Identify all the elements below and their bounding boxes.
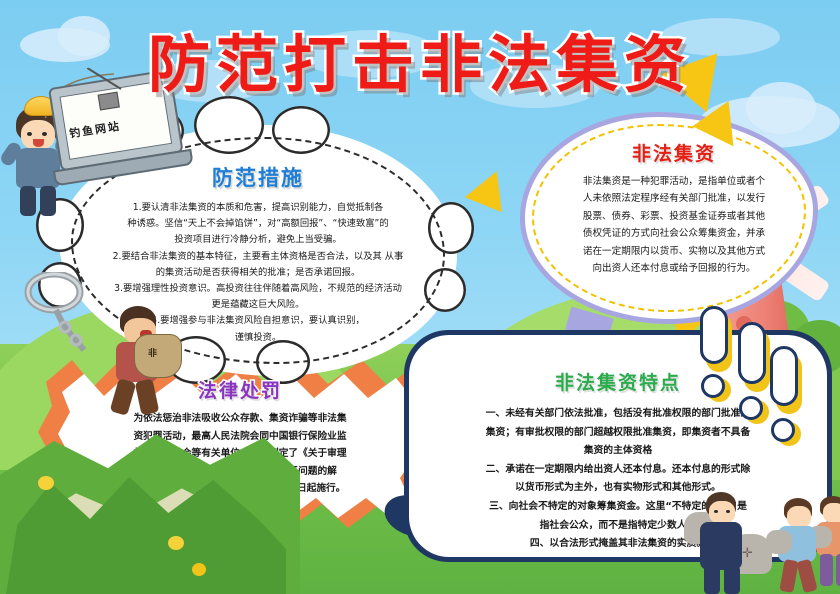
man-leg <box>704 566 720 594</box>
panel-definition-content: 非法集资 非法集资是一种犯罪活动，是指单位或者个 人未依照法定程序经有关部门批准… <box>539 139 809 277</box>
thief-leg <box>135 379 160 416</box>
flower-decor <box>168 536 184 550</box>
panel-line: 人未依照法定程序经有关部门批准，以发行 <box>539 190 809 207</box>
panel-line: 非法集资是一种犯罪活动，是指单位或者个 <box>539 173 809 190</box>
flower-decor <box>38 476 54 490</box>
panel-line: 股票、债券、彩票、投资基金证券或者其他 <box>539 208 809 225</box>
poster-canvas: 防范打击非法集资 钓鱼网站 <box>0 0 840 594</box>
boy-mouth <box>33 139 44 147</box>
exclamation-mark-icon <box>738 322 772 432</box>
panel-line: 集资的主体资格 <box>426 442 810 461</box>
panel-line: 投资项目进行冷静分析，避免上当受骗。 <box>86 232 430 248</box>
panel-line: 债权凭证的方式向社会公众筹集资金，并承 <box>539 225 809 242</box>
panel-line: 2.要结合非法集资的基本特征，主要看主体资格是否合法，以及其 从事 <box>86 249 430 265</box>
thief-leg <box>110 378 137 416</box>
man-leg <box>836 554 840 586</box>
page-title: 防范打击非法集资 <box>148 14 692 104</box>
exclamation-mark-icon <box>700 306 734 404</box>
man-jacket <box>700 522 742 570</box>
panel-line: 二、承诺在一定期限内给出资人还本付息。还本付息的形式除 <box>426 461 810 480</box>
money-symbol: ✛ <box>742 546 753 561</box>
flower-decor <box>192 563 206 576</box>
panel-definition-heading: 非法集资 <box>539 139 809 166</box>
panel-line: 种诱惑。坚信“天上不会掉馅饼”，对“高额回报”、“快速致富”的 <box>86 216 430 232</box>
panel-definition-body: 非法集资是一种犯罪活动，是指单位或者个 人未依照法定程序经有关部门批准，以发行 … <box>539 173 809 277</box>
man-eye <box>726 510 730 513</box>
running-man-blue-character <box>772 498 828 594</box>
money-bag-icon <box>766 530 792 554</box>
panel-line: 诺在一定期限内以货币、实物以及其他方式 <box>539 243 809 260</box>
exclamation-mark-icon <box>770 346 804 456</box>
man-with-money-bags-character: ✛ <box>688 492 760 594</box>
panel-definition-inner: 非法集资 非法集资是一种犯罪活动，是指单位或者个 人未依照法定程序经有关部门批准… <box>525 117 813 319</box>
panel-line: 向出资人还本付息或给予回报的行为。 <box>539 260 809 277</box>
man-eye <box>714 510 718 513</box>
boy-leg <box>40 186 56 216</box>
man-face <box>787 506 811 528</box>
man-leg <box>796 559 817 593</box>
boy-leg <box>20 186 36 216</box>
man-leg <box>724 566 740 594</box>
poster-title-wrap: 防范打击非法集资 <box>0 14 840 104</box>
panel-line: 资犯罪活动，最高人民法院会同中国银行保险业监 <box>70 428 410 446</box>
panel-line: 1.要认清非法集资的本质和危害，提高识别能力，自觉抵制各 <box>86 200 430 216</box>
man-leg <box>779 559 798 593</box>
man-face <box>709 501 735 524</box>
handcuff-icon <box>20 272 150 382</box>
